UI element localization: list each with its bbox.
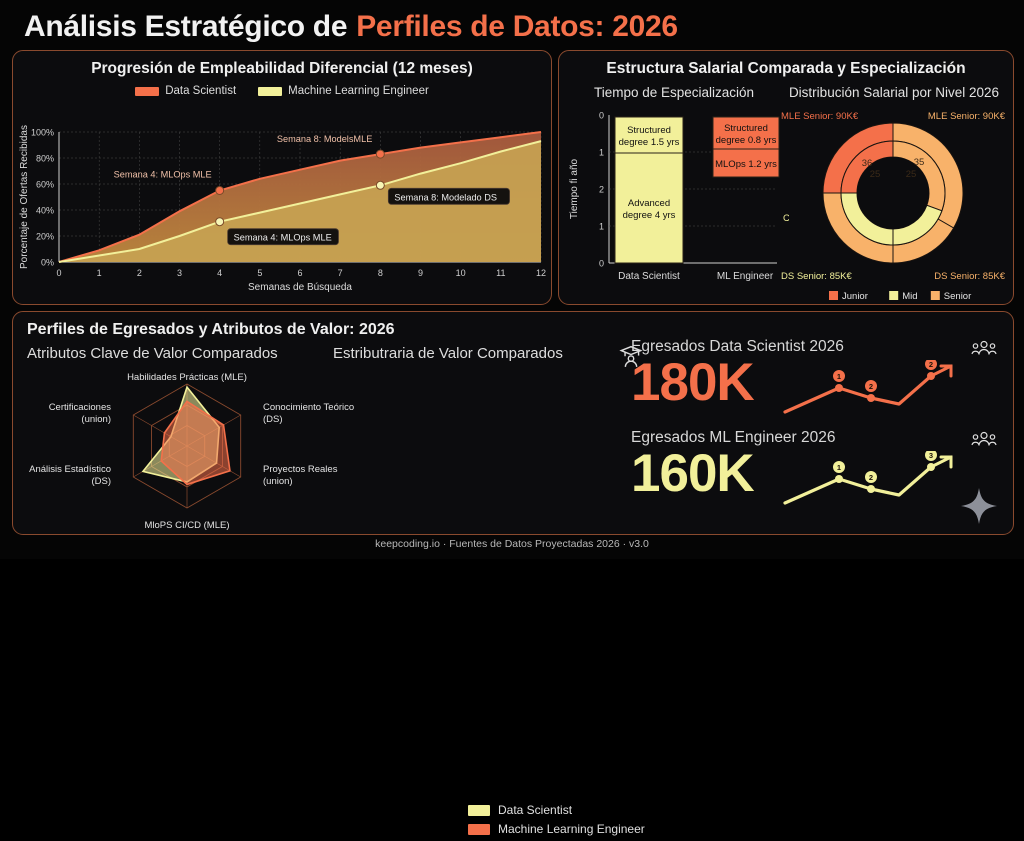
- svg-text:MLE Senior: 90K€: MLE Senior: 90K€: [928, 111, 1006, 122]
- svg-text:ML Engineer: ML Engineer: [717, 271, 774, 282]
- svg-text:4: 4: [217, 268, 222, 278]
- svg-text:6: 6: [297, 268, 302, 278]
- svg-text:2: 2: [869, 473, 873, 482]
- infographic-root: Análisis Estratégico de Perfiles de Dato…: [0, 0, 1024, 559]
- panel-salary: Estructura Salarial Comparada y Especial…: [558, 50, 1014, 305]
- legend-item-ml-engineer[interactable]: Machine Learning Engineer: [258, 85, 429, 97]
- svg-text:9: 9: [418, 268, 423, 278]
- svg-text:Porcentaje de Ofertas Recibida: Porcentaje de Ofertas Recibidas: [19, 125, 30, 269]
- svg-text:Proyectos Reales: Proyectos Reales: [263, 464, 338, 475]
- legend3-label-ds: Data Scientist: [498, 803, 572, 817]
- svg-text:(union): (union): [263, 476, 293, 487]
- panel1-title: Progresión de Empleabilidad Diferencial …: [13, 60, 551, 78]
- page-title-accent: Perfiles de Datos: 2026: [356, 10, 678, 44]
- legend-label-mle: Machine Learning Engineer: [288, 85, 429, 97]
- svg-text:Structured: Structured: [724, 123, 768, 134]
- svg-text:degree 1.5 yrs: degree 1.5 yrs: [619, 137, 680, 148]
- people-group-icon: [971, 431, 997, 453]
- svg-text:100%: 100%: [31, 128, 54, 138]
- svg-text:MLOps 1.2 yrs: MLOps 1.2 yrs: [715, 159, 777, 170]
- svg-text:60%: 60%: [36, 180, 54, 190]
- svg-text:Certificaciones: Certificaciones: [49, 402, 112, 413]
- panel-profiles: Perfiles de Egresados y Atributos de Val…: [12, 311, 1014, 535]
- svg-text:1: 1: [599, 222, 604, 232]
- donut-chart-svg: 36352525MLE Senior: 90K€MLE Senior: 90K€…: [777, 103, 1009, 303]
- svg-text:5: 5: [257, 268, 262, 278]
- panel2-sub-right: Distribución Salarial por Nivel 2026: [775, 85, 1013, 100]
- svg-text:2: 2: [929, 360, 933, 369]
- panel2-title: Estructura Salarial Comparada y Especial…: [559, 60, 1013, 78]
- svg-text:1: 1: [837, 372, 841, 381]
- sparkle-icon: [959, 486, 999, 526]
- footer-credit: keepcoding.io · Fuentes de Datos Proyect…: [0, 538, 1024, 550]
- svg-text:2: 2: [869, 382, 873, 391]
- svg-text:(union): (union): [81, 414, 111, 425]
- svg-text:40%: 40%: [36, 206, 54, 216]
- svg-text:Advanced: Advanced: [628, 198, 670, 209]
- svg-text:11: 11: [496, 268, 505, 278]
- svg-text:Structured: Structured: [627, 125, 671, 136]
- panel3-legend: Data Scientist Machine Learning Engineer: [468, 803, 645, 841]
- svg-text:12: 12: [536, 268, 546, 278]
- svg-text:Data Scientist: Data Scientist: [618, 271, 680, 282]
- legend-swatch-ds: [135, 87, 159, 96]
- line-chart-svg: 0%20%40%60%80%100%0123456789101112Semana…: [13, 124, 551, 302]
- svg-text:10: 10: [456, 268, 466, 278]
- svg-text:DS Senior: 85K€: DS Senior: 85K€: [934, 271, 1005, 282]
- legend3-item-mle[interactable]: Machine Learning Engineer: [468, 822, 645, 836]
- svg-text:(DS): (DS): [91, 476, 111, 487]
- svg-text:0: 0: [56, 268, 61, 278]
- svg-text:2: 2: [599, 185, 604, 195]
- svg-text:Semana 4: MLOps MLE: Semana 4: MLOps MLE: [114, 170, 212, 180]
- svg-text:7: 7: [338, 268, 343, 278]
- legend3-swatch-mle: [468, 824, 490, 835]
- svg-text:degree 0.8 yrs: degree 0.8 yrs: [716, 135, 777, 146]
- svg-text:Senior: Senior: [944, 291, 971, 302]
- legend3-swatch-ds: [468, 805, 490, 816]
- svg-text:Tiempo fi año: Tiempo fi año: [569, 158, 580, 219]
- svg-text:1: 1: [599, 148, 604, 158]
- svg-text:Semana 4: MLOps MLE: Semana 4: MLOps MLE: [234, 233, 332, 243]
- svg-text:3: 3: [177, 268, 182, 278]
- svg-text:20%: 20%: [36, 232, 54, 242]
- radar-chart-svg: Habilidades Prácticas (MLE)Conocimiento …: [19, 360, 419, 538]
- svg-text:MLE Senior: 90K€: MLE Senior: 90K€: [781, 111, 859, 122]
- svg-text:25: 25: [906, 169, 917, 180]
- sparkline-ds: 122: [781, 360, 961, 422]
- legend-swatch-mle: [258, 87, 282, 96]
- svg-text:Semanas de Búsqueda: Semanas de Búsqueda: [248, 282, 352, 293]
- svg-text:0%: 0%: [41, 258, 54, 268]
- legend3-label-mle: Machine Learning Engineer: [498, 822, 645, 836]
- svg-text:0: 0: [599, 259, 604, 269]
- svg-text:DS Senior: 85K€: DS Senior: 85K€: [781, 271, 852, 282]
- svg-text:Junior: Junior: [842, 291, 868, 302]
- svg-text:Análisis Estadístico: Análisis Estadístico: [29, 464, 111, 475]
- svg-text:3: 3: [929, 451, 933, 460]
- svg-text:35: 35: [914, 157, 925, 168]
- legend3-item-ds[interactable]: Data Scientist: [468, 803, 645, 817]
- legend-label-ds: Data Scientist: [165, 85, 236, 97]
- svg-text:Conocimiento Teórico: Conocimiento Teórico: [263, 402, 354, 413]
- page-title-plain: Análisis Estratégico de: [24, 10, 347, 44]
- page-title: Análisis Estratégico de Perfiles de Dato…: [24, 6, 678, 48]
- svg-text:Habilidades Prácticas (MLE): Habilidades Prácticas (MLE): [127, 372, 247, 383]
- svg-text:Mid: Mid: [902, 291, 917, 302]
- panel1-legend: Data Scientist Machine Learning Engineer: [13, 85, 551, 97]
- bar-chart-svg: 01210Tiempo fi añoData ScientistML Engin…: [561, 103, 789, 303]
- svg-text:(DS): (DS): [263, 414, 283, 425]
- svg-text:36: 36: [862, 158, 873, 169]
- svg-text:80%: 80%: [36, 154, 54, 164]
- people-group-icon: [971, 340, 997, 362]
- panel-employability: Progresión de Empleabilidad Diferencial …: [12, 50, 552, 305]
- svg-text:Semana 8: Modelado DS: Semana 8: Modelado DS: [394, 192, 497, 202]
- svg-text:1: 1: [97, 268, 102, 278]
- svg-text:0: 0: [599, 111, 604, 121]
- svg-text:MloPS CI/CD (MLE): MloPS CI/CD (MLE): [145, 520, 230, 531]
- svg-text:1: 1: [837, 463, 841, 472]
- panel2-sub-left: Tiempo de Especialización: [565, 85, 783, 100]
- legend-item-data-scientist[interactable]: Data Scientist: [135, 85, 236, 97]
- svg-text:2: 2: [137, 268, 142, 278]
- svg-text:25: 25: [870, 169, 881, 180]
- svg-text:8: 8: [378, 268, 383, 278]
- sparkline-mle: 123: [781, 451, 961, 513]
- line-chart: 0%20%40%60%80%100%0123456789101112Semana…: [13, 124, 551, 302]
- panel3-title: Perfiles de Egresados y Atributos de Val…: [27, 321, 1013, 339]
- svg-text:degree 4 yrs: degree 4 yrs: [623, 210, 676, 221]
- svg-text:Semana 8: ModelsMLE: Semana 8: ModelsMLE: [277, 134, 373, 144]
